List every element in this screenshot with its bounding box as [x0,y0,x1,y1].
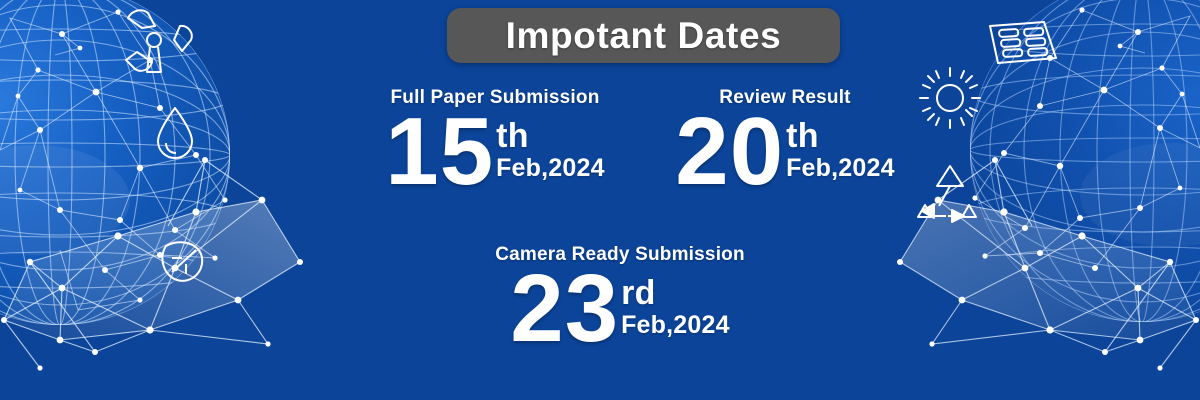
leaf-icon [162,242,202,281]
wind-turbine-icon [126,10,192,72]
recycle-icon [918,166,976,222]
date-value-row: 23 rd Feb,2024 [455,272,785,347]
globe-left-icon [0,0,230,325]
solar-panel-icon [990,22,1056,63]
network-mesh-right [975,10,1200,268]
day-suffix: rd [621,276,656,310]
day-number: 20 [675,115,784,190]
day-number: 23 [510,272,619,347]
globe-right-icon [970,0,1200,322]
water-drop-icon [158,108,192,158]
date-block-camera-ready-submission: Camera Ready Submission 23 rd Feb,2024 [455,245,785,347]
date-label: Full Paper Submission [330,88,660,107]
page-title: Impotant Dates [506,17,782,54]
month-year: Feb,2024 [496,156,605,181]
sun-icon [920,68,980,128]
date-value-row: 20 th Feb,2024 [645,115,925,190]
date-label: Camera Ready Submission [455,245,785,264]
day-suffix-month: rd Feb,2024 [621,272,730,338]
date-block-review-result: Review Result 20 th Feb,2024 [645,88,925,190]
day-suffix: th [496,119,529,153]
low-poly-leaf-left [1,157,303,371]
month-year: Feb,2024 [621,313,730,338]
day-number: 15 [385,115,494,190]
left-decoration [0,0,330,400]
day-suffix: th [786,119,819,153]
network-nodes-left [16,9,228,302]
date-block-full-paper-submission: Full Paper Submission 15 th Feb,2024 [330,88,660,190]
low-poly-leaf-right [897,157,1199,371]
day-suffix-month: th Feb,2024 [786,115,895,181]
day-suffix-month: th Feb,2024 [496,115,605,181]
network-nodes-right [972,7,1184,271]
right-decoration [870,0,1200,400]
important-dates-banner: Impotant Dates Full Paper Submission 15 … [0,0,1200,400]
important-dates-title-pill: Impotant Dates [447,8,840,63]
date-value-row: 15 th Feb,2024 [330,115,660,190]
network-mesh-left [0,12,225,310]
month-year: Feb,2024 [786,156,895,181]
